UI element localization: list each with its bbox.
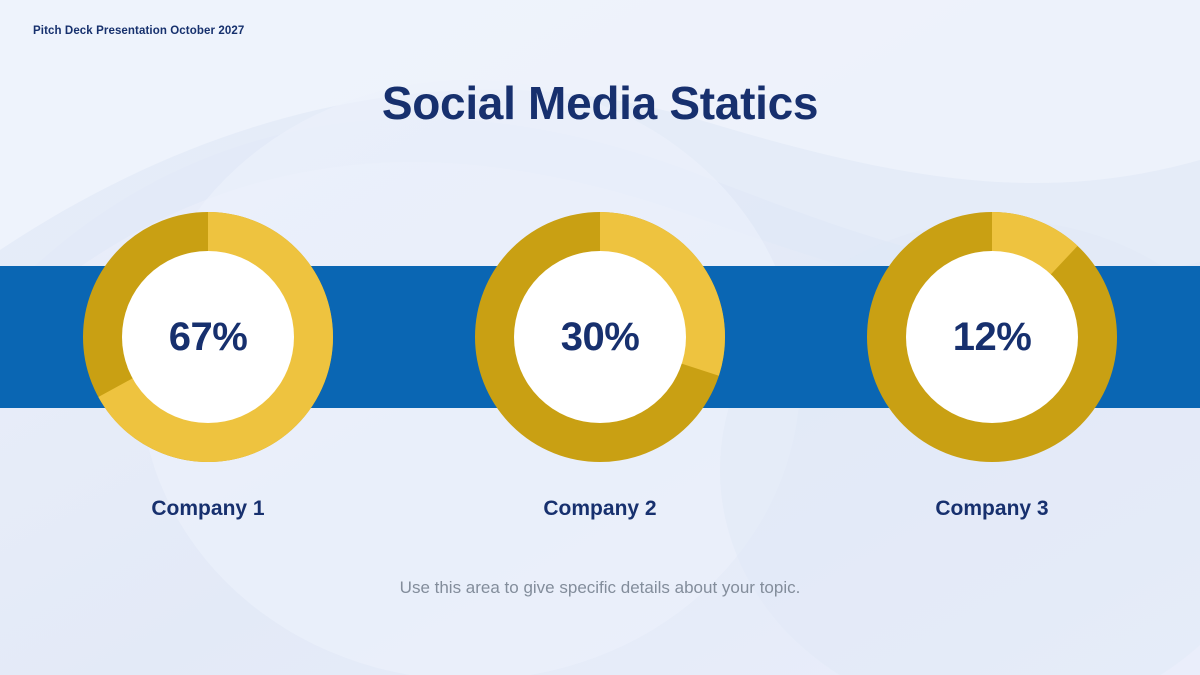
donut-chart-3[interactable]: 12%	[867, 212, 1117, 462]
donut-percent-2: 30%	[561, 317, 640, 357]
donut-chart-row: 67% Company 1 30% Company 2	[0, 212, 1200, 522]
page-title: Social Media Statics	[0, 76, 1200, 130]
donut-hole-3: 12%	[906, 251, 1078, 423]
slide-kicker: Pitch Deck Presentation October 2027	[33, 25, 244, 37]
donut-label-3: Company 3	[935, 497, 1048, 521]
donut-hole-1: 67%	[122, 251, 294, 423]
stat-company-2: 30% Company 2	[475, 212, 725, 521]
donut-chart-2[interactable]: 30%	[475, 212, 725, 462]
donut-label-1: Company 1	[151, 497, 264, 521]
donut-percent-1: 67%	[169, 317, 248, 357]
slide-footnote: Use this area to give specific details a…	[0, 578, 1200, 598]
donut-hole-2: 30%	[514, 251, 686, 423]
donut-chart-1[interactable]: 67%	[83, 212, 333, 462]
donut-label-2: Company 2	[543, 497, 656, 521]
stat-company-3: 12% Company 3	[867, 212, 1117, 521]
stat-company-1: 67% Company 1	[83, 212, 333, 521]
slide-canvas: Pitch Deck Presentation October 2027 Soc…	[0, 0, 1200, 675]
donut-percent-3: 12%	[953, 317, 1032, 357]
